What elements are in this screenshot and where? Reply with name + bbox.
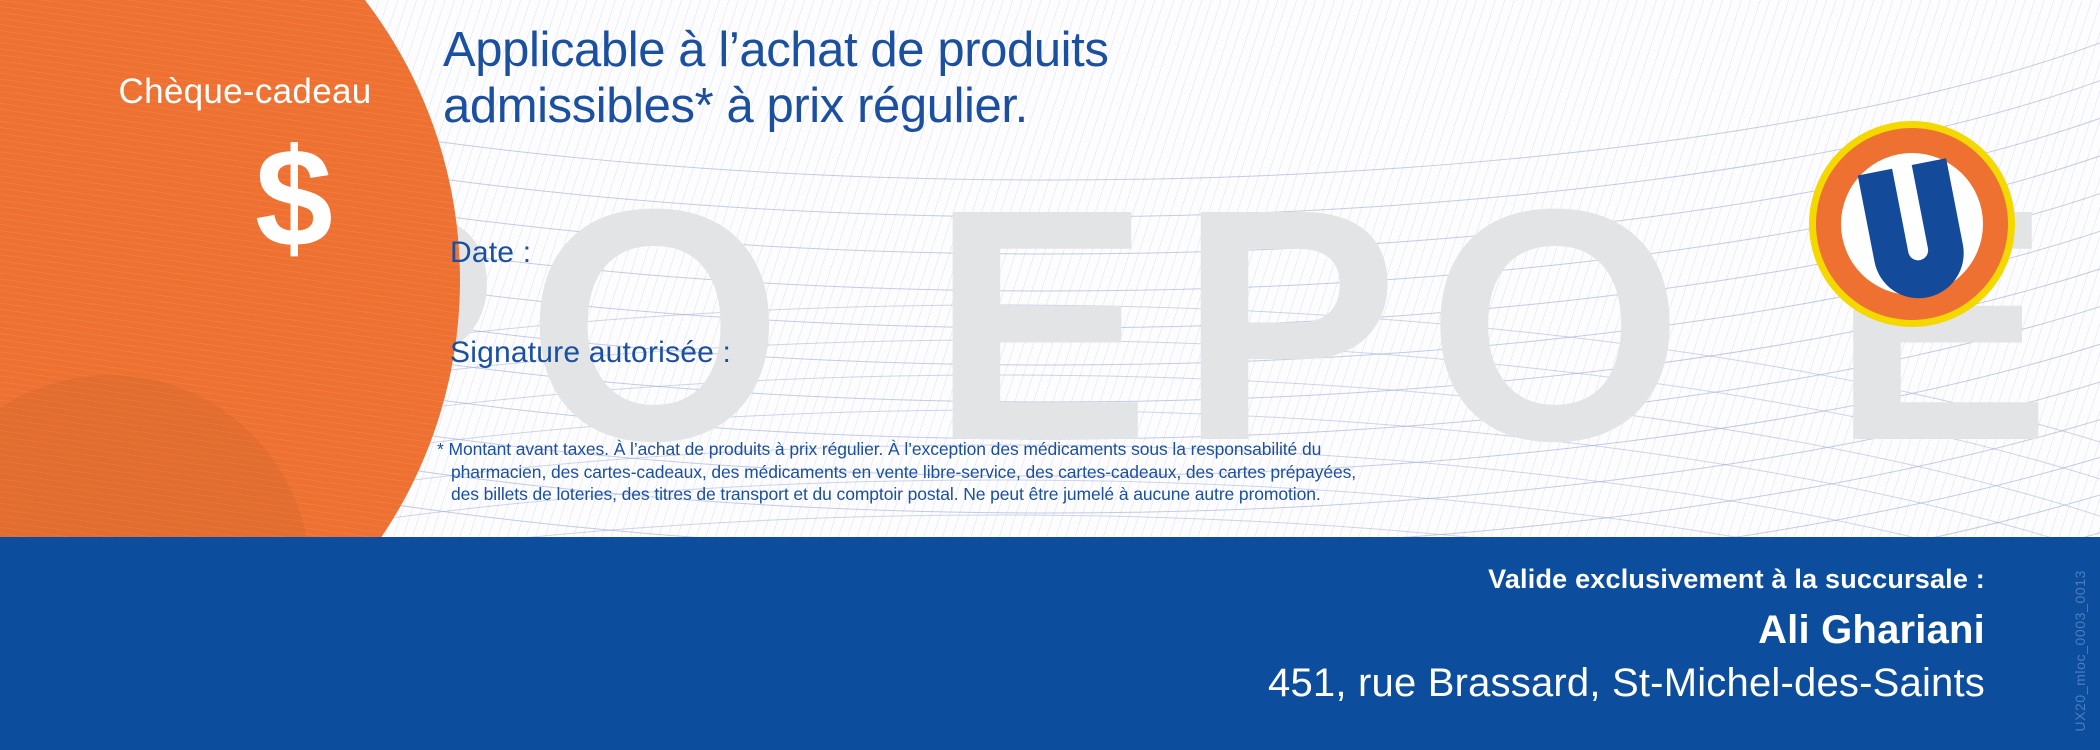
headline-line-2: admissibles* à prix régulier.	[443, 78, 1543, 134]
gift-certificate: EPO EPO EPO Chèque-cadeau $ Applicable à…	[0, 0, 2100, 750]
fineprint-line-3: des billets de loteries, des titres de t…	[437, 483, 1637, 506]
headline-line-1: Applicable à l’achat de produits	[443, 22, 1543, 78]
date-field-label: Date :	[450, 236, 531, 270]
store-address: 451, rue Brassard, St-Michel-des-Saints	[1268, 657, 1985, 709]
headline: Applicable à l’achat de produits admissi…	[443, 22, 1543, 134]
signature-field-label: Signature autorisée :	[450, 336, 731, 370]
uniprix-logo-icon	[1806, 118, 2018, 330]
logo-svg	[1806, 118, 2018, 330]
fineprint-disclaimer: * Montant avant taxes. À l’achat de prod…	[437, 438, 1637, 506]
validity-label: Valide exclusivement à la succursale :	[1268, 561, 1985, 597]
cheque-cadeau-title: Chèque-cadeau	[60, 72, 430, 112]
reference-code: UX20_mloc_0003_0013	[2072, 570, 2088, 732]
fineprint-line-2: pharmacien, des cartes-cadeaux, des médi…	[437, 461, 1637, 484]
store-info: Valide exclusivement à la succursale : A…	[1268, 561, 1985, 709]
dollar-sign-icon: $	[255, 128, 333, 268]
fineprint-line-1: * Montant avant taxes. À l’achat de prod…	[437, 438, 1637, 461]
footer-bar: Valide exclusivement à la succursale : A…	[0, 537, 2100, 750]
store-name: Ali Ghariani	[1268, 603, 1985, 657]
